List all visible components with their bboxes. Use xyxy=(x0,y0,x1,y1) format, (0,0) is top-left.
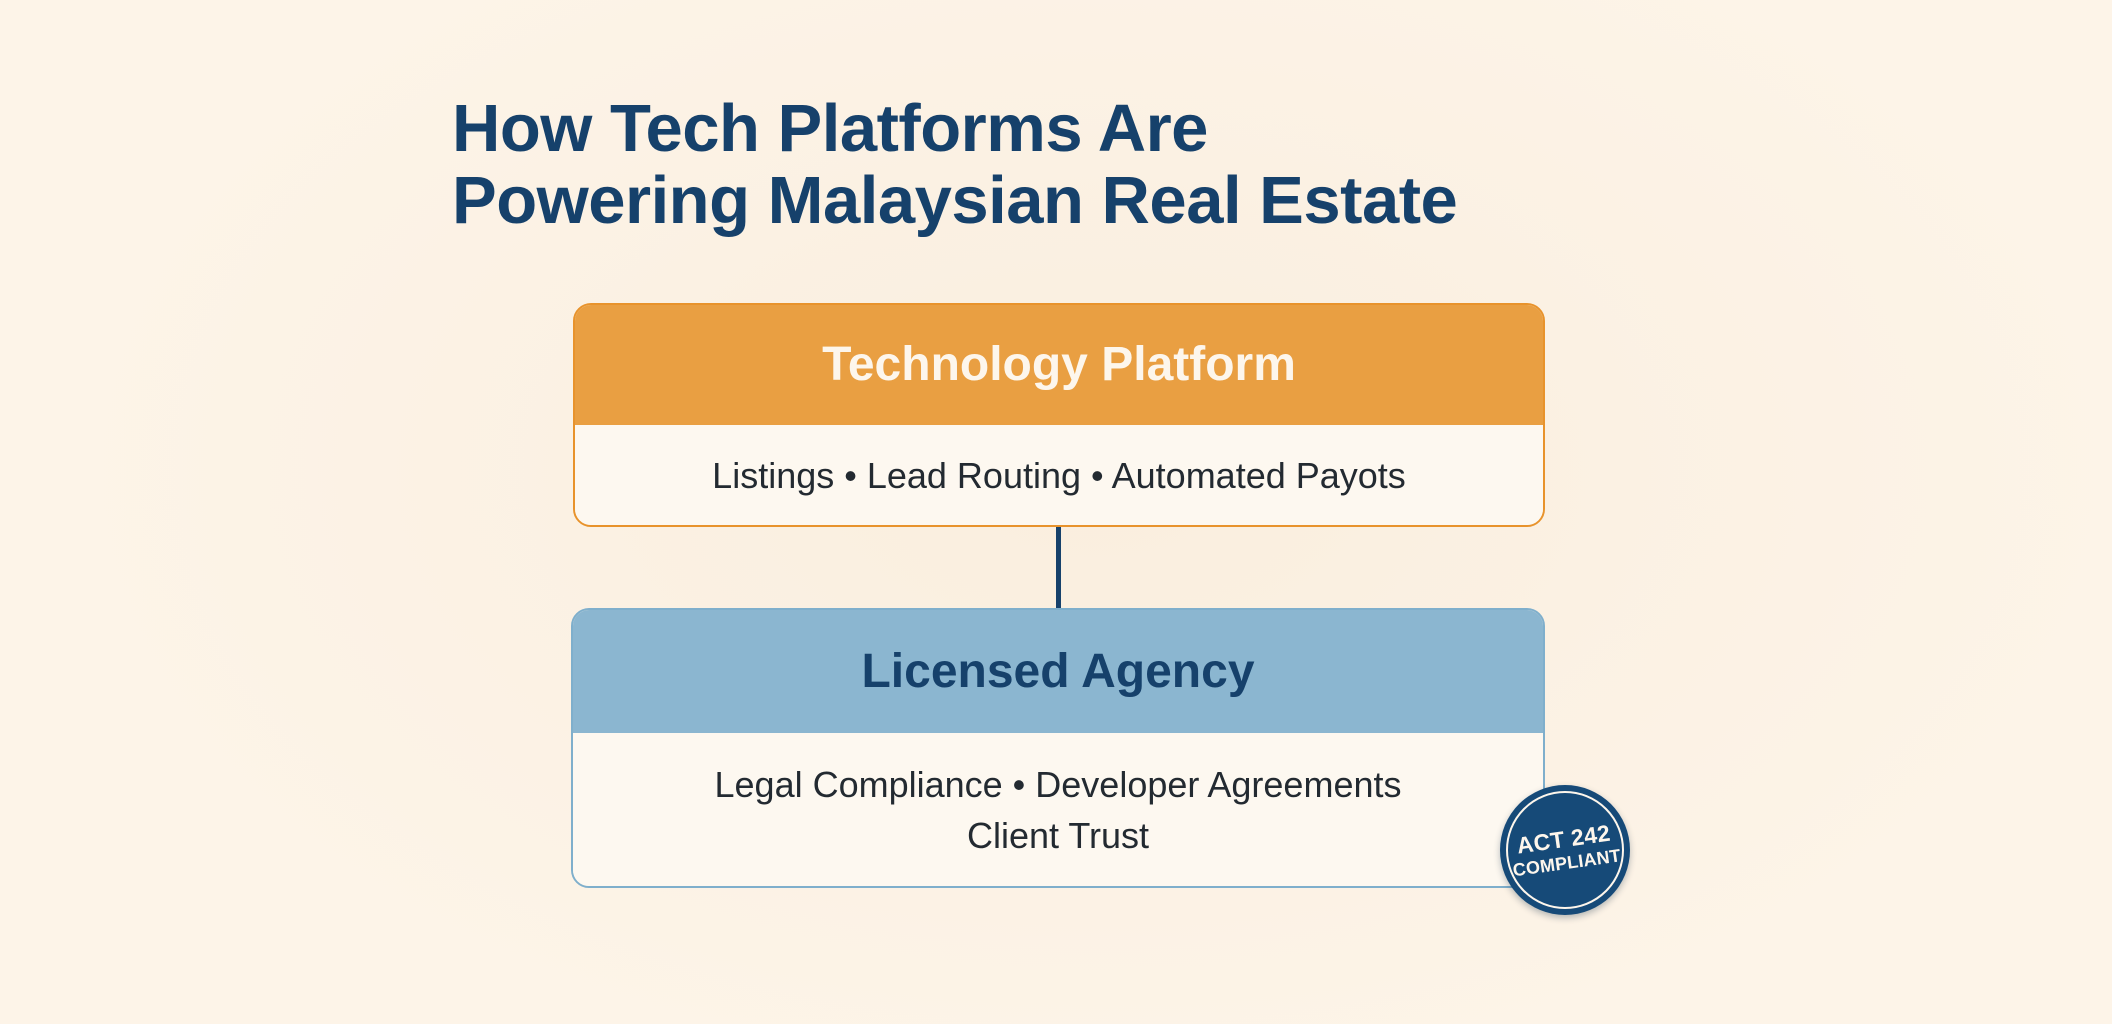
page-title-line-2: Powering Malaysian Real Estate xyxy=(452,165,1752,237)
node-technology-platform-body: Listings • Lead Routing • Automated Payo… xyxy=(575,425,1543,525)
node-licensed-agency-header: Licensed Agency xyxy=(573,610,1543,733)
node-technology-platform: Technology Platform Listings • Lead Rout… xyxy=(573,303,1545,527)
node-licensed-agency-body: Legal Compliance • Developer Agreements … xyxy=(573,733,1543,886)
connector-platform-to-agency xyxy=(1056,527,1061,610)
node-technology-platform-detail-1: Listings • Lead Routing • Automated Payo… xyxy=(712,453,1406,498)
page-title-line-1: How Tech Platforms Are xyxy=(452,93,1752,165)
node-licensed-agency: Licensed Agency Legal Compliance • Devel… xyxy=(571,608,1545,888)
node-technology-platform-title: Technology Platform xyxy=(822,341,1296,389)
node-technology-platform-header: Technology Platform xyxy=(575,305,1543,425)
node-licensed-agency-title: Licensed Agency xyxy=(861,648,1254,696)
infographic-stage: How Tech Platforms Are Powering Malaysia… xyxy=(0,0,2112,1024)
node-licensed-agency-detail-1: Legal Compliance • Developer Agreements xyxy=(715,762,1402,807)
badge-text: ACT 242 COMPLIANT xyxy=(1492,777,1639,924)
compliance-badge: ACT 242 COMPLIANT xyxy=(1500,785,1630,915)
node-licensed-agency-detail-2: Client Trust xyxy=(967,813,1149,858)
page-title: How Tech Platforms Are Powering Malaysia… xyxy=(452,93,1752,238)
